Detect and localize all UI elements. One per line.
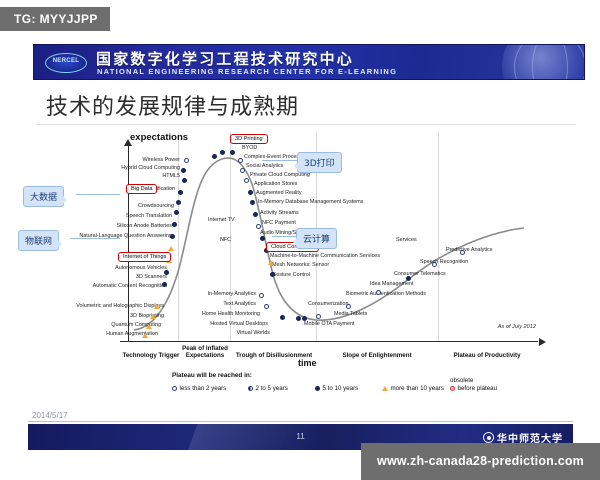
item-label-services: Services <box>396 238 417 243</box>
open-circle-icon <box>172 386 177 391</box>
item-label: Speech Translation <box>54 214 172 219</box>
item-label: Idea Management <box>370 282 413 287</box>
data-point <box>184 158 189 163</box>
title-divider <box>36 124 576 125</box>
item-label: Hybrid Cloud Computing <box>50 166 180 171</box>
item-label: Mobile OTA Payment <box>304 322 355 327</box>
item-label: Augmented Reality <box>256 191 302 196</box>
half-circle-icon <box>248 386 253 391</box>
data-point <box>238 158 243 163</box>
data-point <box>240 168 245 173</box>
slide-canvas: TG: MYYJJPP NERCEL 国家数字化学习工程技术研究中心 NATIO… <box>0 0 600 480</box>
item-label: Gamification <box>70 187 175 192</box>
data-point-triangle <box>168 246 174 251</box>
slide-date: 2014/5/17 <box>32 411 68 420</box>
item-label: In-Memory Database Management Systems <box>258 200 363 205</box>
data-point <box>460 250 465 255</box>
item-label: Biometric Authentication Methods <box>346 292 426 297</box>
phase-technology-trigger: Technology Trigger <box>122 352 180 360</box>
curve-label-internet-tv: Internet TV <box>208 218 235 223</box>
item-label: In-Memory Analytics <box>148 292 256 297</box>
triangle-icon <box>382 386 388 391</box>
highlight-internet-of-things[interactable]: Internet of Things <box>118 252 171 262</box>
data-point <box>181 168 186 173</box>
item-label: Social Analytics <box>246 164 283 169</box>
tg-watermark: TG: MYYJJPP <box>0 7 110 31</box>
highlight-big-data[interactable]: Big Data <box>126 184 157 194</box>
callout-3d-print[interactable]: 3D打印 <box>297 152 342 173</box>
data-point <box>172 222 177 227</box>
globe-graphic <box>502 44 585 80</box>
data-point <box>259 293 264 298</box>
item-label: Volumetric and Holographic Displays <box>12 304 164 309</box>
data-point <box>346 304 351 309</box>
data-point <box>220 150 225 155</box>
item-label: Quantum Computing <box>40 323 161 328</box>
callout-cloud[interactable]: 云计算 <box>296 228 337 249</box>
data-point <box>174 210 179 215</box>
item-label: Consumerization <box>308 302 348 307</box>
footer-divider <box>28 421 573 422</box>
item-label: Media Tablets <box>334 312 367 317</box>
data-point <box>182 178 187 183</box>
solid-circle-icon <box>315 386 320 391</box>
phase-trough-of-disillusionment: Trough of Disillusionment <box>234 352 314 360</box>
item-label: Silicon Anode Batteries <box>50 224 172 229</box>
item-label: Automatic Content Recognition <box>22 284 167 289</box>
data-point <box>316 314 321 319</box>
data-point <box>162 282 167 287</box>
nercel-logo-icon: NERCEL <box>45 53 87 73</box>
item-label: Wireless Power <box>72 158 180 163</box>
data-point-triangle <box>142 333 148 338</box>
x-axis-arrow-icon <box>539 338 546 346</box>
data-point <box>256 224 261 229</box>
item-label: BYOD <box>242 146 257 151</box>
data-point <box>376 290 381 295</box>
data-point <box>250 200 255 205</box>
item-label: Home Health Monitoring <box>138 312 260 317</box>
data-point <box>280 315 285 320</box>
item-label: 3D Scanners <box>74 275 167 280</box>
item-label: Human Augmentation <box>40 332 158 337</box>
item-label: Machine-to-Machine Communication Service… <box>270 254 380 259</box>
data-point <box>212 154 217 159</box>
item-label: Hosted Virtual Desktops <box>150 322 268 327</box>
item-label: Consumer Telematics <box>394 272 446 277</box>
item-label: Predictive Analytics <box>446 248 492 253</box>
data-point <box>270 272 275 277</box>
item-label: NFC Payment <box>262 221 296 226</box>
url-watermark: www.zh-canada28-prediction.com <box>361 443 600 480</box>
page-title: 技术的发展规律与成熟期 <box>46 89 299 121</box>
banner-title-english: NATIONAL ENGINEERING RESEARCH CENTER FOR… <box>97 67 397 76</box>
callout-big-data[interactable]: 大数据 <box>23 186 64 207</box>
logo-text: NERCEL <box>46 58 86 64</box>
legend-item-gt10y: more than 10 years <box>382 385 444 392</box>
data-point-triangle <box>268 260 274 265</box>
item-label: Text Analytics <box>168 302 256 307</box>
chart-legend: Plateau will be reached in: obsolete les… <box>120 372 540 402</box>
item-label: Gesture Control <box>272 273 310 278</box>
item-label: Virtual Worlds <box>178 331 270 336</box>
highlight-3d-printing[interactable]: 3D Printing <box>230 134 268 144</box>
curve-label-nfc: NFC <box>220 238 231 243</box>
data-point <box>432 262 437 267</box>
item-label: Private Cloud Computing <box>250 173 310 178</box>
item-label: Mesh Networks: Sensor <box>272 263 329 268</box>
data-point <box>296 316 301 321</box>
item-label: Speech Recognition <box>420 260 468 265</box>
data-point <box>406 276 411 281</box>
data-point <box>253 212 258 217</box>
item-label: Application Stores <box>254 182 297 187</box>
data-point-triangle <box>154 304 160 309</box>
phase-plateau-of-productivity: Plateau of Productivity <box>442 352 532 360</box>
item-label: HTML5 <box>90 174 180 179</box>
data-point <box>248 190 253 195</box>
item-label: Autonomous Vehicles <box>52 266 167 271</box>
phase-slope-of-enlightenment: Slope of Enlightenment <box>318 352 436 360</box>
data-point <box>230 150 235 155</box>
data-point <box>260 236 265 241</box>
legend-item-obsolete: before plateau <box>450 385 497 392</box>
callout-iot[interactable]: 物联网 <box>18 230 59 251</box>
obsolete-icon <box>450 386 455 391</box>
university-seal-icon <box>483 432 494 443</box>
callout-connector <box>70 238 120 239</box>
data-point <box>178 190 183 195</box>
data-point <box>302 316 307 321</box>
legend-item-lt2y: less than 2 years <box>172 385 226 392</box>
data-point <box>264 304 269 309</box>
header-banner: NERCEL 国家数字化学习工程技术研究中心 NATIONAL ENGINEER… <box>33 44 585 80</box>
legend-title: Plateau will be reached in: <box>172 372 252 379</box>
data-point <box>176 200 181 205</box>
banner-title-chinese: 国家数字化学习工程技术研究中心 <box>96 48 354 69</box>
legend-obsolete-note: obsolete <box>450 377 473 384</box>
item-label: Crowdsourcing <box>62 204 174 209</box>
data-point <box>244 178 249 183</box>
data-point <box>170 234 175 239</box>
data-point <box>164 270 169 275</box>
legend-item-5to10y: 5 to 10 years <box>315 385 358 392</box>
callout-connector <box>76 194 120 195</box>
legend-item-2to5y: 2 to 5 years <box>248 385 288 392</box>
phase-peak-of-inflated-expectations: Peak of Inflated Expectations <box>178 345 232 361</box>
item-label: Activity Streams <box>260 211 299 216</box>
